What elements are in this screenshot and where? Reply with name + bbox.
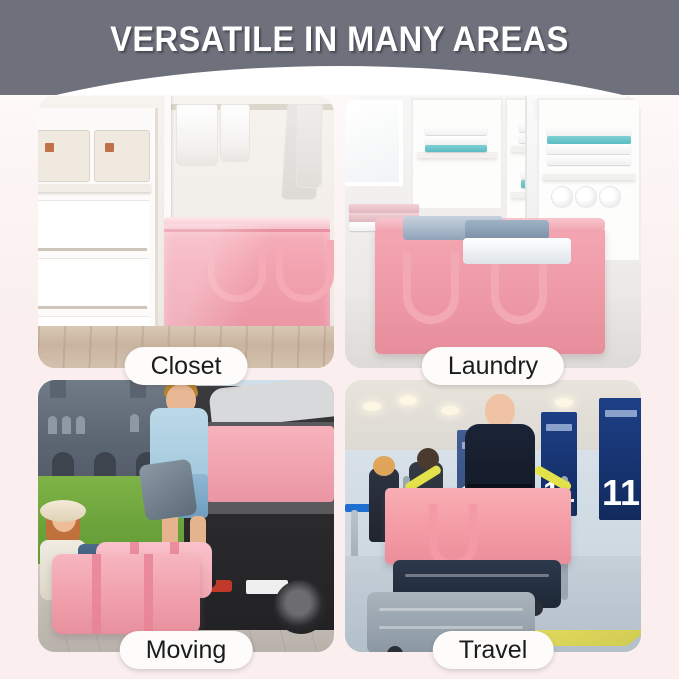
travel-pink-bag [385,488,571,564]
card-laundry[interactable]: Laundry [345,96,641,368]
garment-bag-icon [176,104,218,166]
building-spire [50,380,66,398]
suitcase-seam [379,608,523,611]
closet-drawer [38,258,149,306]
closet-drawer [38,200,149,248]
building-window [48,416,57,434]
folded-linen [425,145,487,152]
cabinet-shelf [543,174,635,180]
ceiling-light [399,396,417,405]
laundry-photo [345,96,641,368]
suitcase-seam [379,626,523,629]
clothes-stack [463,238,571,264]
bag-strap [92,554,101,634]
suitcase-seam [405,574,549,577]
closet-bag-highlight [164,224,330,330]
header-banner: VERSATILE IN MANY AREAS [0,0,679,95]
sign-logo-bar [546,424,572,431]
card-closet[interactable]: Closet [38,96,334,368]
wheel [274,580,328,634]
building-window [62,416,71,434]
ceiling-light [363,402,381,411]
bag-handle [429,504,477,568]
sign-logo-bar [605,410,637,417]
ceiling-light [555,398,573,407]
travel-photo: 11 11 11 [345,380,641,652]
sign-number: 11 [599,472,641,514]
feature-card-grid: Closet [38,96,641,652]
card-travel[interactable]: 11 11 11 [345,380,641,652]
closet-photo [38,96,334,368]
storage-box [94,130,150,182]
sun-hat [40,500,86,522]
check-in-sign: 11 [599,398,641,520]
rolled-towel [551,186,573,208]
folded-linen [425,126,487,135]
card-moving[interactable]: Moving [38,380,334,652]
gray-duffel-bag [138,459,197,522]
bag-strap [144,554,153,634]
card-label-laundry[interactable]: Laundry [422,347,564,385]
ceiling-light [441,406,459,415]
moving-pink-bag-front [52,554,200,634]
folded-linen [349,204,419,213]
rolled-towel [575,186,597,208]
card-label-moving[interactable]: Moving [120,631,253,669]
trunk-pink-bag [206,426,334,502]
building-window [130,414,139,432]
person-head [485,394,515,428]
folded-linen [547,144,631,154]
garment-bag-icon [296,104,322,188]
folded-linen [547,136,631,144]
header-curve-divider [0,66,679,95]
storage-box [38,130,90,182]
bag-handle [403,252,459,324]
folded-linen [425,136,487,145]
card-label-travel[interactable]: Travel [433,631,554,669]
moving-photo [38,380,334,652]
rolled-towel [599,186,621,208]
card-label-closet[interactable]: Closet [125,347,248,385]
page-title: VERSATILE IN MANY AREAS [24,20,655,60]
closet-drawer-unit [38,108,158,330]
garment-bag-icon [220,104,250,162]
folded-linen [547,155,631,165]
traveler-hat [373,456,395,476]
closet-shelf [38,184,151,192]
suitcase-caster [387,646,403,652]
clothes-stack [465,220,549,240]
laundry-cabinet [411,98,503,210]
laundry-window [345,100,403,186]
folded-linen [547,126,631,136]
building-window [76,416,85,434]
cabinet-shelf [417,152,497,158]
